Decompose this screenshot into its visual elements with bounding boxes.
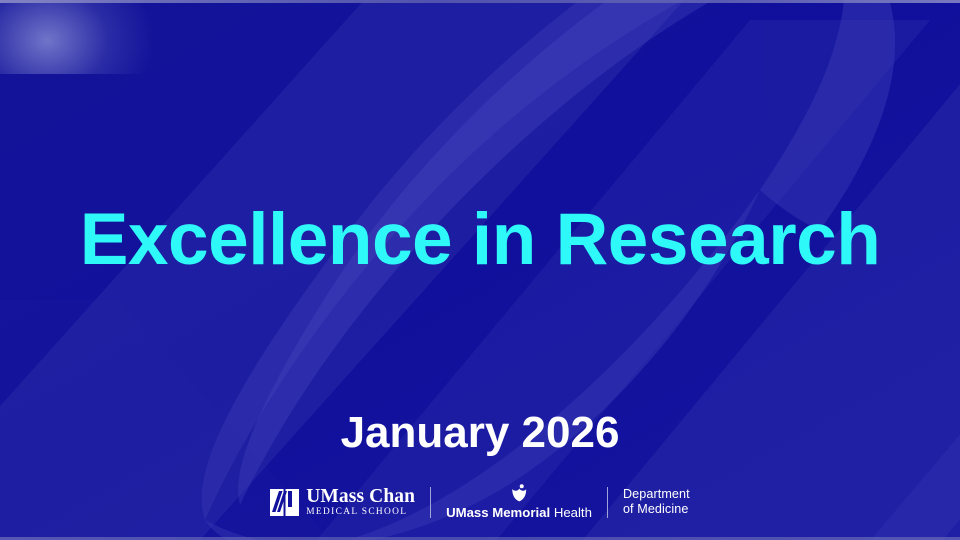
department-line-1: Department xyxy=(623,487,690,503)
logo-divider-1 xyxy=(430,487,431,518)
umass-memorial-tulip-mark-icon xyxy=(510,484,529,502)
umass-chan-u-mark-icon xyxy=(270,489,299,516)
presentation-slide: Excellence in Research January 2026 UMas… xyxy=(0,0,960,540)
umass-memorial-name: UMass Memorial xyxy=(446,505,550,520)
umass-chan-name: UMass Chan xyxy=(306,487,415,506)
slide-subtitle-date: January 2026 xyxy=(0,406,960,460)
department-line-2: of Medicine xyxy=(623,502,690,518)
logo-bar: UMass Chan MEDICAL SCHOOL UMass Memorial… xyxy=(0,478,960,526)
logo-divider-2 xyxy=(607,487,608,518)
umass-chan-subline: MEDICAL SCHOOL xyxy=(306,507,415,518)
umass-memorial-wordmark: UMass Memorial Health xyxy=(446,505,592,520)
umass-memorial-logo: UMass Memorial Health xyxy=(446,482,592,522)
corner-glow-highlight xyxy=(0,0,152,74)
umass-memorial-health-word: Health xyxy=(554,505,592,520)
umass-chan-wordmark: UMass Chan MEDICAL SCHOOL xyxy=(306,487,415,518)
top-edge-rule xyxy=(0,0,960,3)
slide-title: Excellence in Research xyxy=(0,197,960,283)
department-of-medicine-label: Department of Medicine xyxy=(623,487,690,518)
umass-chan-logo: UMass Chan MEDICAL SCHOOL xyxy=(270,485,415,519)
